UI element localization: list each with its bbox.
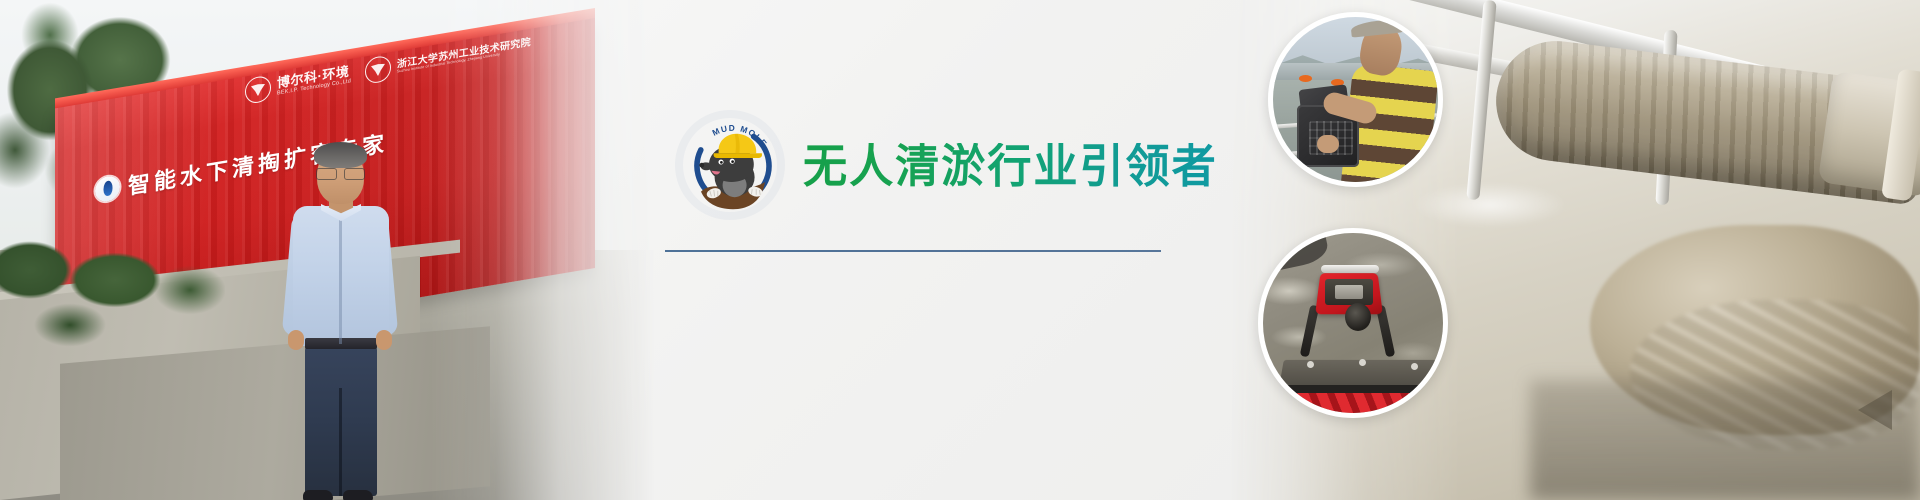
person-hand-left bbox=[288, 330, 304, 350]
robot-equipment-plate bbox=[1335, 285, 1363, 299]
hedge-row bbox=[0, 230, 225, 370]
water-drop-badge-icon bbox=[95, 174, 120, 203]
robot-impeller bbox=[1345, 303, 1371, 331]
operator-remote-control-photo bbox=[1268, 12, 1443, 187]
person-engineer bbox=[285, 138, 395, 500]
page-title: 无人清淤行业引领者 bbox=[803, 143, 1218, 189]
person-hand-right bbox=[376, 330, 392, 350]
center-content: MUD MOLE 无人清淤行业引领者 bbox=[660, 0, 1260, 500]
mud-mole-logo: MUD MOLE bbox=[685, 118, 781, 214]
deck-bolt bbox=[1307, 361, 1314, 368]
dredging-robot-photo bbox=[1258, 228, 1448, 418]
robot-lift-handle bbox=[1321, 265, 1379, 273]
person-shoe-left bbox=[303, 490, 333, 500]
buoy-marker bbox=[1299, 75, 1312, 82]
eyeglasses-icon bbox=[316, 168, 365, 178]
university-crest-icon bbox=[365, 54, 391, 84]
person-hair bbox=[314, 142, 367, 168]
person-leg-split bbox=[339, 388, 342, 496]
deck-bolt bbox=[1359, 359, 1366, 366]
operator-hand bbox=[1317, 135, 1339, 153]
company-hero-banner: 博尔科·环境 BEK.I.P. Technology Co.,Ltd 浙江大学苏… bbox=[0, 0, 1920, 500]
headline-row: MUD MOLE 无人清淤行业引领者 bbox=[685, 118, 1235, 214]
shield-bird-icon bbox=[245, 75, 271, 105]
left-photo: 博尔科·环境 BEK.I.P. Technology Co.,Ltd 浙江大学苏… bbox=[0, 0, 660, 500]
deck-bolt bbox=[1411, 363, 1418, 370]
person-shoe-right bbox=[343, 490, 373, 500]
person-shirt-placket bbox=[339, 220, 342, 344]
divider bbox=[665, 250, 1161, 252]
arrow-icon bbox=[1858, 390, 1892, 430]
